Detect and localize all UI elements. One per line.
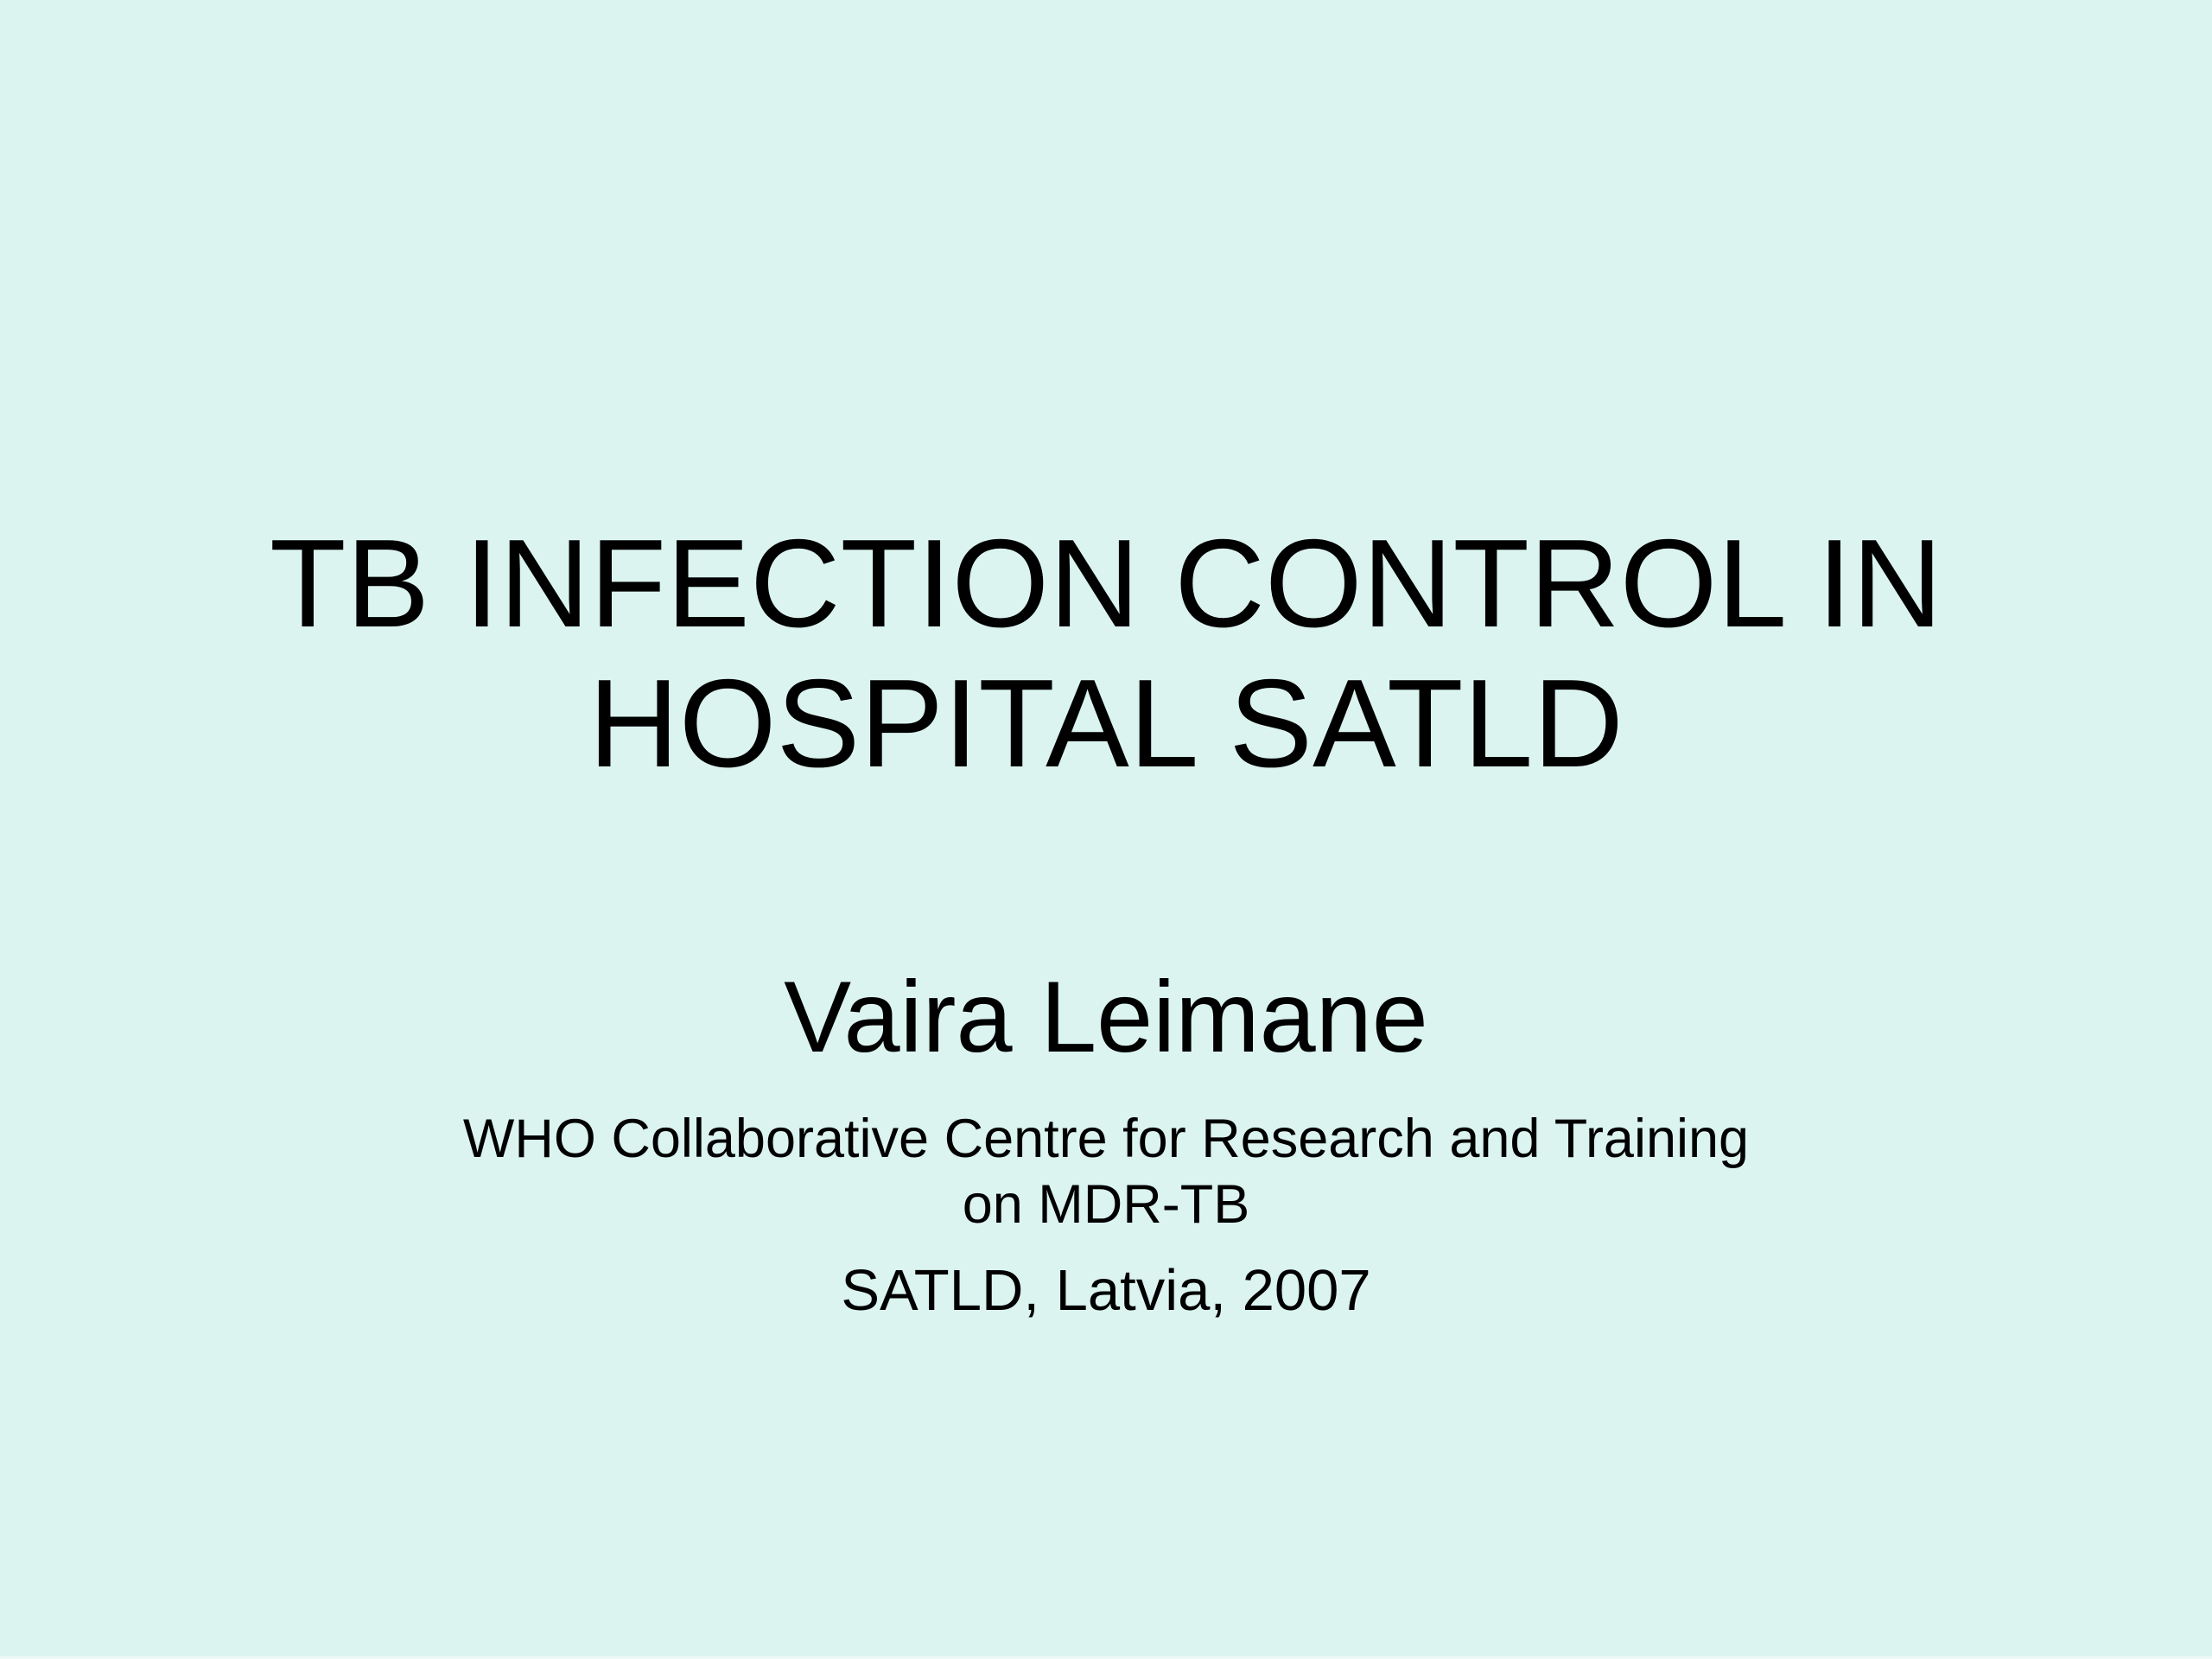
slide-title: TB INFECTION CONTROL IN HOSPITAL SATLD [0,513,2212,793]
affiliation-line-1: WHO Collaborative Centre for Research an… [0,1106,2212,1172]
author-name: Vaira Leimane [0,961,2212,1073]
presentation-slide: TB INFECTION CONTROL IN HOSPITAL SATLD V… [0,0,2212,1659]
affiliation-line-2: on MDR-TB [0,1172,2212,1237]
slide-title-line-1: TB INFECTION CONTROL IN [0,513,2212,653]
slide-title-line-2: HOSPITAL SATLD [0,653,2212,793]
event-location-year: SATLD, Latvia, 2007 [0,1256,2212,1325]
slide-subtitle: Vaira Leimane WHO Collaborative Centre f… [0,961,2212,1325]
